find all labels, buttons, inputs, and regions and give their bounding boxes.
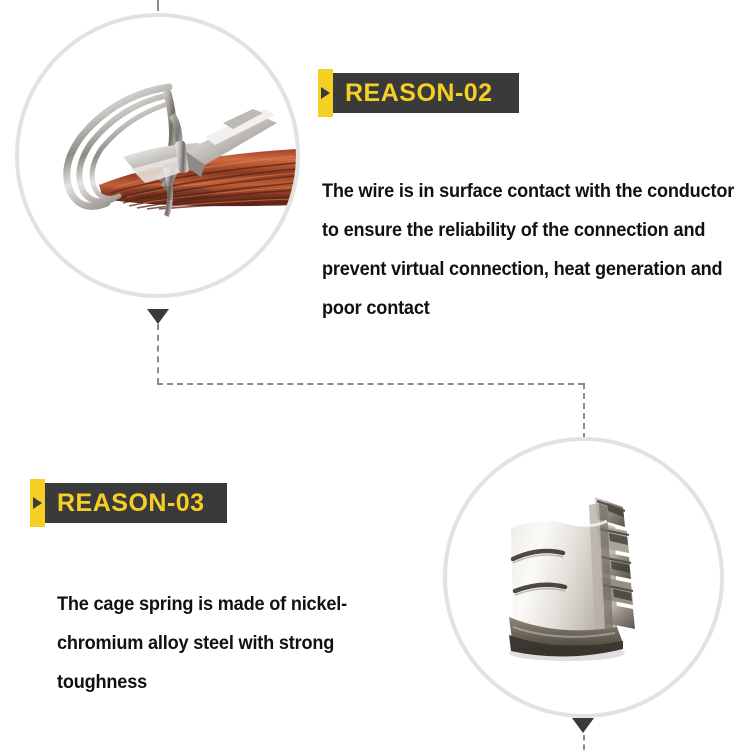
- badge-box: REASON-02: [331, 73, 519, 113]
- infographic-page: REASON-02 The wire is in surface contact…: [0, 0, 750, 750]
- cage-spring-on-copper-wire-photo: [15, 13, 300, 298]
- badge-label-reason-02: REASON-02: [345, 79, 493, 108]
- photo-clip-bottom: [447, 441, 720, 714]
- connector-dash-vertical-upper: [157, 324, 159, 384]
- badge-box: REASON-03: [43, 483, 227, 523]
- cage-spring-wire-illustration: [19, 17, 296, 294]
- cage-spring-component-illustration: [447, 441, 720, 714]
- triangle-down-icon: [572, 718, 594, 733]
- photo-clip-top: [19, 17, 296, 294]
- badge-label-reason-03: REASON-03: [57, 489, 205, 518]
- play-triangle-icon: [33, 497, 42, 509]
- connector-dash-bottom-stub: [583, 735, 585, 750]
- body-text-reason-03: The cage spring is made of nickel-chromi…: [57, 585, 364, 702]
- badge-reason-02[interactable]: REASON-02: [318, 73, 519, 113]
- connector-dash-vertical-lower: [583, 383, 585, 439]
- triangle-down-icon: [147, 309, 169, 324]
- badge-accent-bar: [318, 69, 333, 117]
- connector-dash-horizontal: [157, 383, 584, 385]
- badge-reason-03[interactable]: REASON-03: [30, 483, 227, 523]
- body-text-reason-02: The wire is in surface contact with the …: [322, 172, 736, 328]
- badge-accent-bar: [30, 479, 45, 527]
- play-triangle-icon: [321, 87, 330, 99]
- connector-dash-top-stub: [157, 0, 159, 11]
- cage-spring-component-photo: [443, 437, 724, 718]
